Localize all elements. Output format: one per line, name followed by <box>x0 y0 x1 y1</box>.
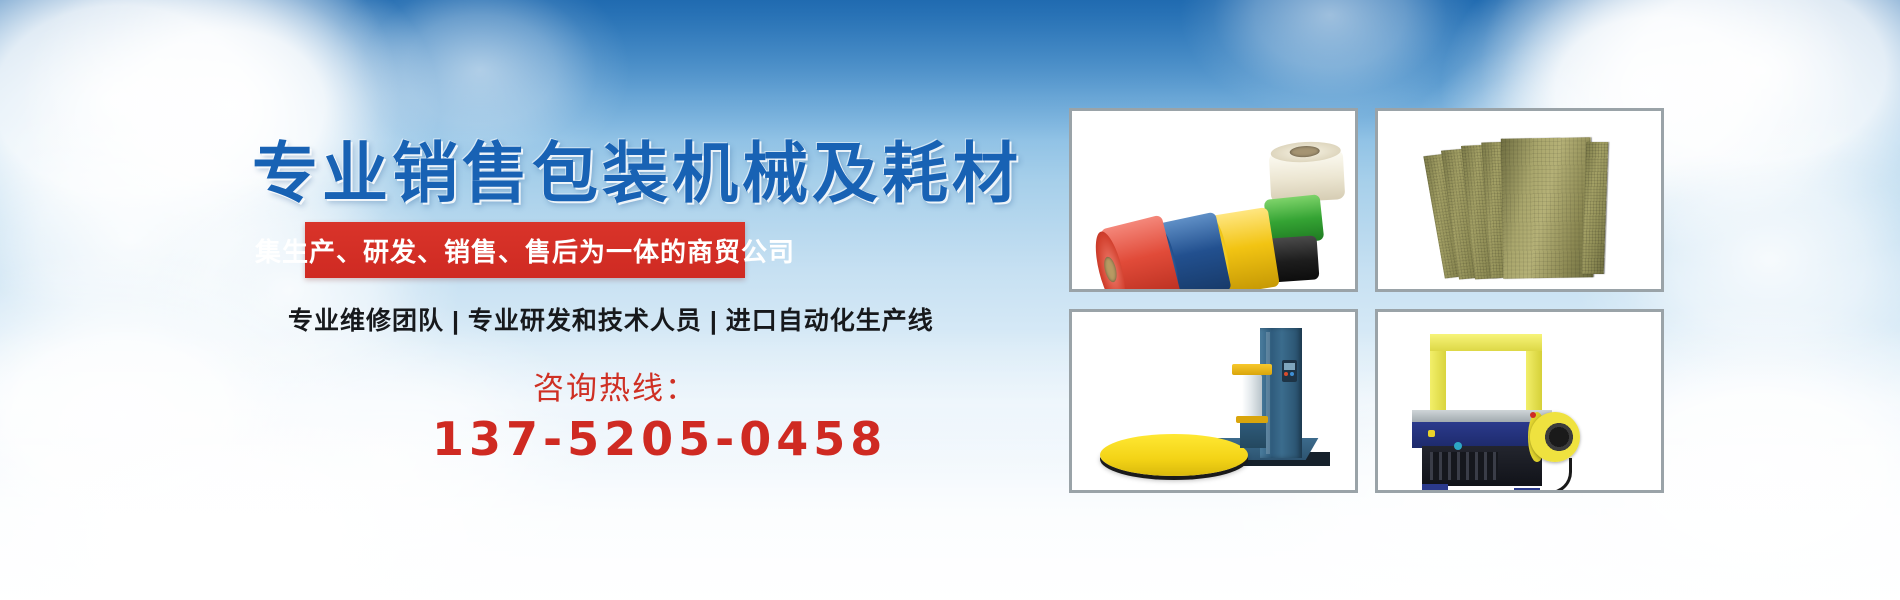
hotline-label: 咨询热线： <box>533 363 698 408</box>
photo-card-woven-pp-sacks[interactable] <box>1375 108 1664 292</box>
strapper-cable <box>1528 458 1572 493</box>
wrapper-turntable <box>1100 434 1248 476</box>
pallet-stretch-wrapper-image <box>1072 312 1355 490</box>
woven-sack <box>1582 142 1609 274</box>
photo-card-automatic-strapping-machine[interactable] <box>1375 309 1664 493</box>
hotline-number[interactable]: 137-5205-0458 <box>432 412 887 466</box>
wrapper-carriage-lower <box>1236 416 1268 423</box>
tagline-badge-text: 集生产、研发、销售、售后为一体的商贸公司 <box>255 232 795 269</box>
strapper-arch-top <box>1430 334 1542 351</box>
automatic-strapping-machine-image <box>1378 312 1661 490</box>
wrapper-column <box>1260 328 1302 458</box>
strapper-warning-label <box>1428 430 1435 437</box>
promo-banner: 专业销售包装机械及耗材 集生产、研发、销售、售后为一体的商贸公司 专业维修团队 … <box>0 0 1900 600</box>
sack-stack <box>1428 136 1618 286</box>
wrapper-shaft <box>1240 420 1266 448</box>
tagline-badge: 集生产、研发、销售、售后为一体的商贸公司 <box>305 222 745 278</box>
woven-pp-sacks-image <box>1378 111 1661 289</box>
banner-headline: 专业销售包装机械及耗材 <box>252 120 1022 216</box>
banner-text-column: 专业销售包装机械及耗材 集生产、研发、销售、售后为一体的商贸公司 专业维修团队 … <box>0 0 1000 600</box>
strapper-leg-left <box>1422 484 1448 493</box>
pp-strapping-rolls-image <box>1072 111 1355 289</box>
wrapper-control-panel <box>1282 360 1297 382</box>
strapper-indicator <box>1454 442 1462 450</box>
banner-subline: 专业维修团队 | 专业研发和技术人员 | 进口自动化生产线 <box>288 301 934 337</box>
woven-sack <box>1501 137 1593 279</box>
strapper-strap-reel <box>1530 412 1580 462</box>
photo-card-pallet-stretch-wrapper[interactable] <box>1069 309 1358 493</box>
photo-card-pp-strapping-rolls[interactable] <box>1069 108 1358 292</box>
strapper-vents <box>1430 452 1498 480</box>
product-photo-grid <box>1069 108 1664 493</box>
strapper-red-button <box>1530 412 1536 418</box>
wrapper-film-roll <box>1242 374 1262 420</box>
wrapper-carriage <box>1232 364 1272 375</box>
